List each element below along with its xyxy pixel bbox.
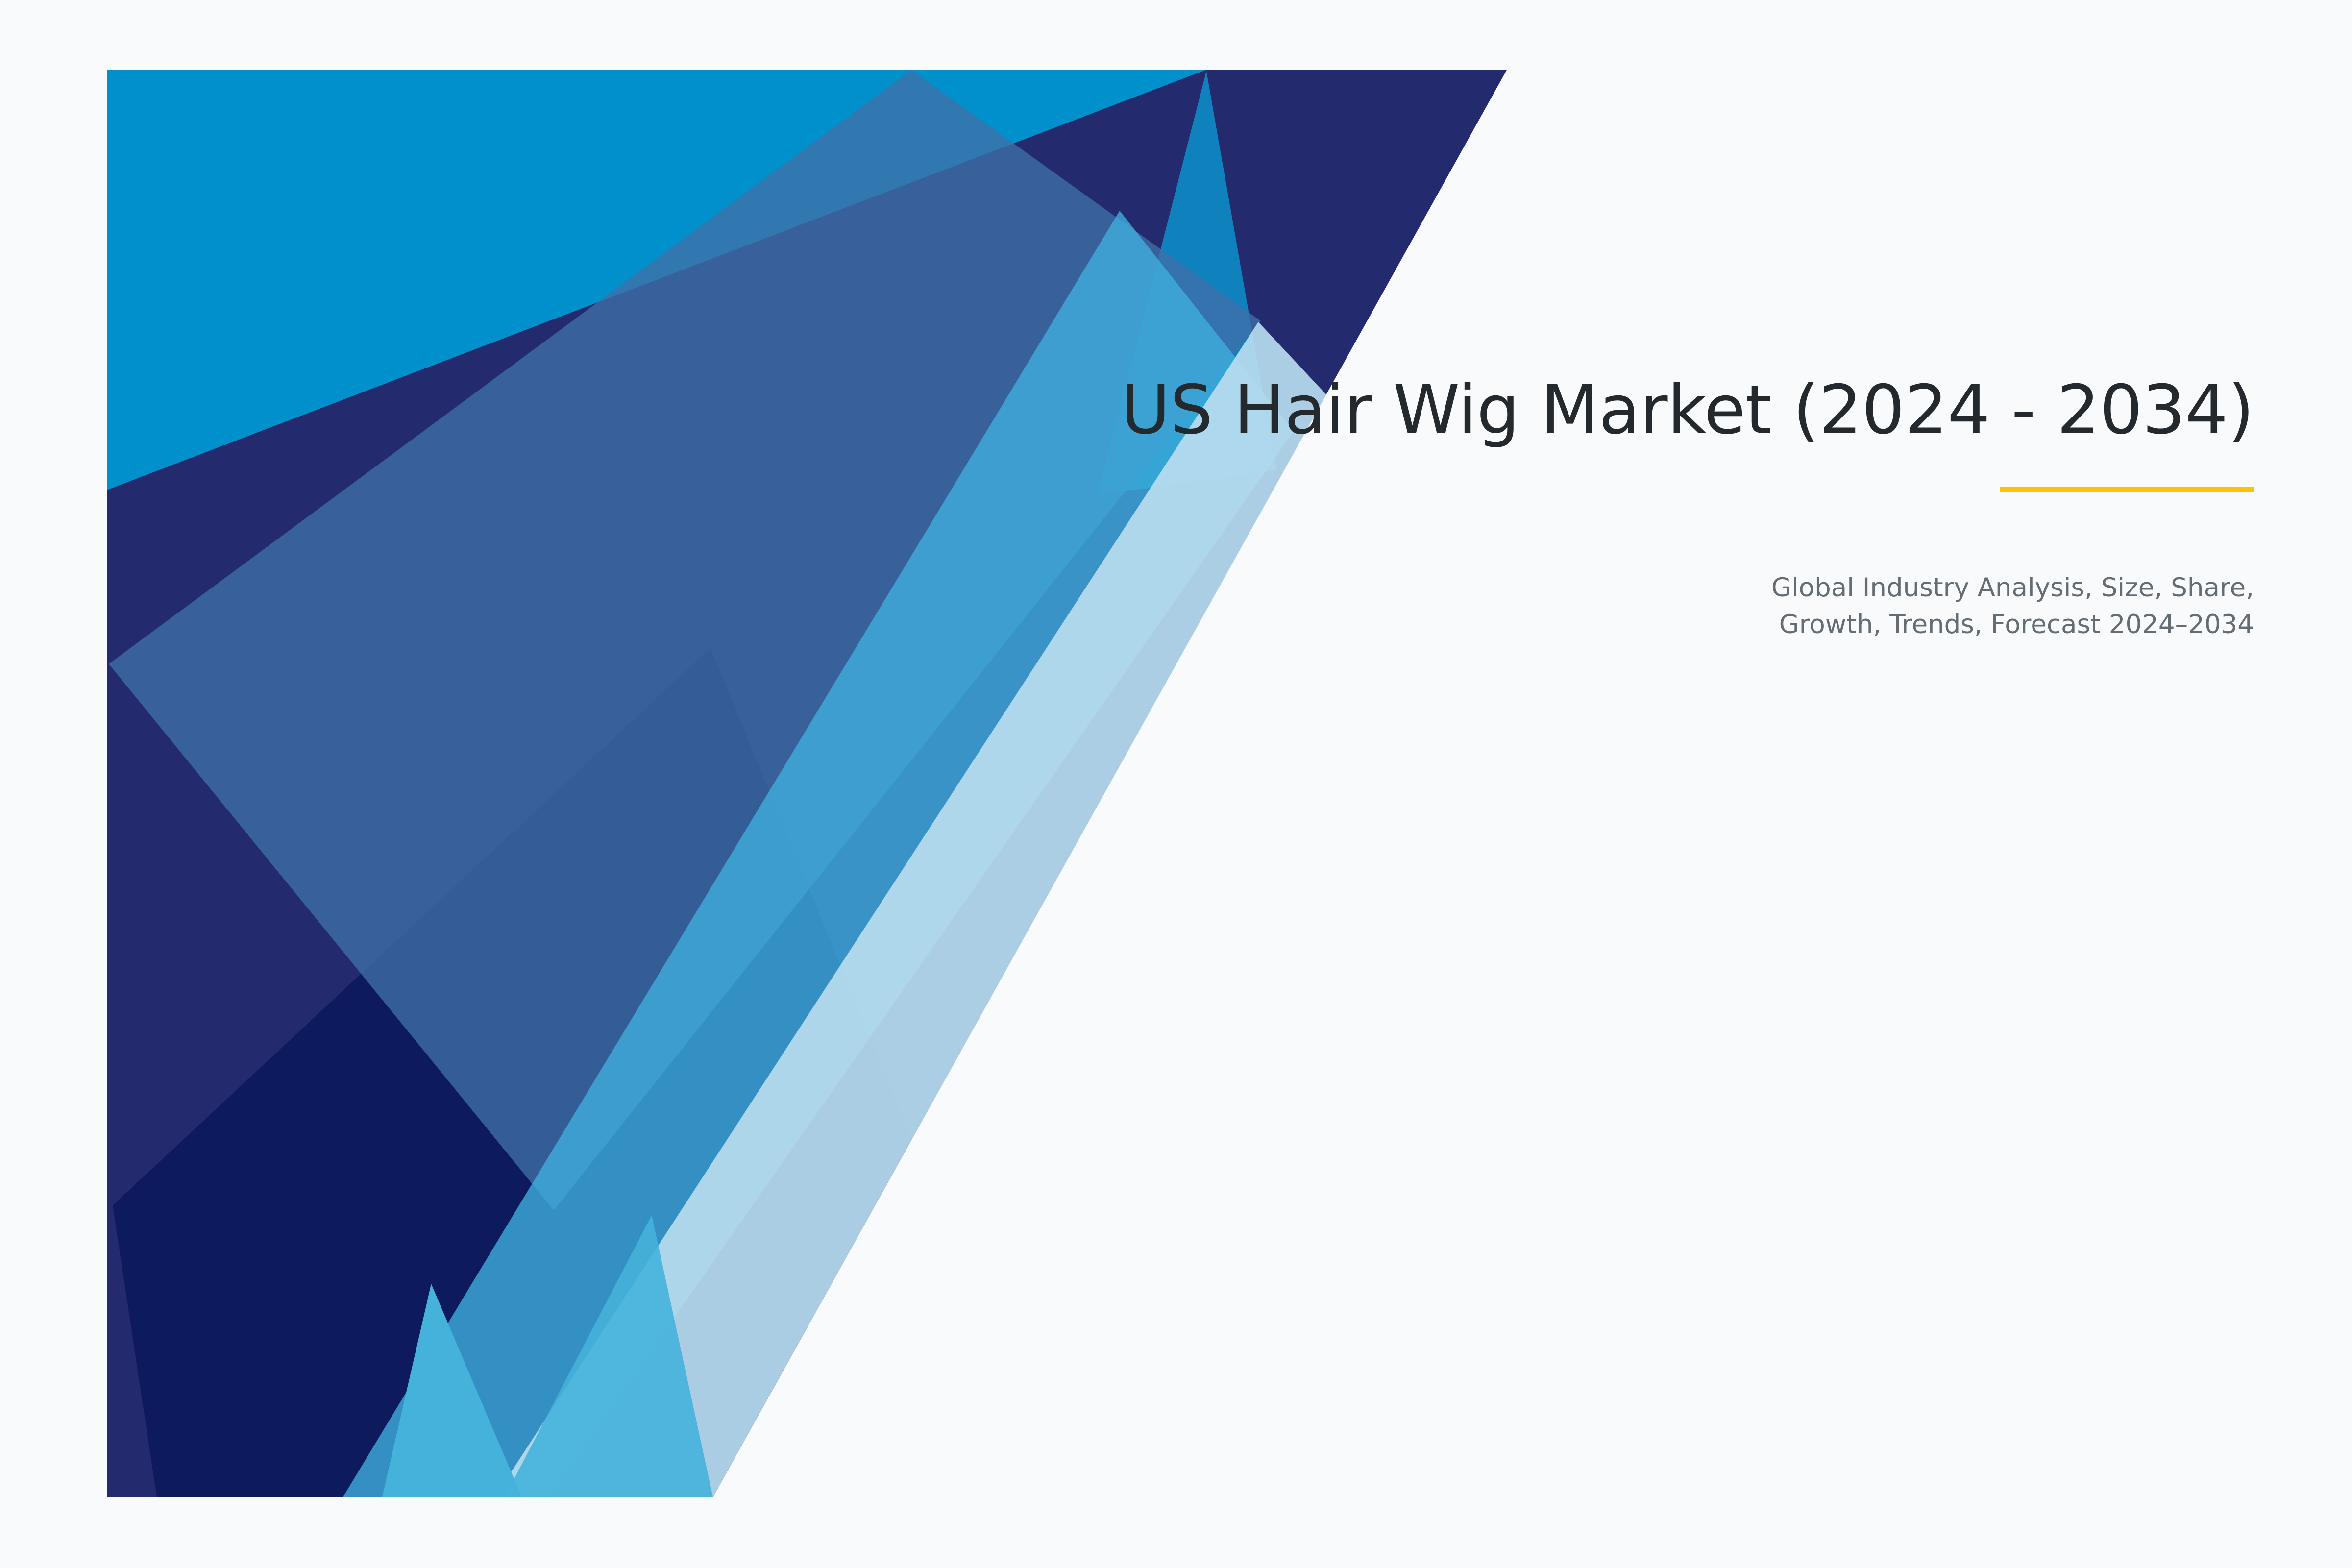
accent-rule (2000, 487, 2254, 492)
slide-canvas: US Hair Wig Market (2024 - 2034) Global … (0, 0, 2352, 1568)
page-subtitle: Global Industry Analysis, Size, Share, G… (833, 569, 2254, 643)
title-block: US Hair Wig Market (2024 - 2034) Global … (833, 372, 2254, 643)
accent-rule-container (833, 487, 2254, 492)
page-title: US Hair Wig Market (2024 - 2034) (833, 372, 2254, 448)
cover-artwork (0, 0, 2352, 1568)
